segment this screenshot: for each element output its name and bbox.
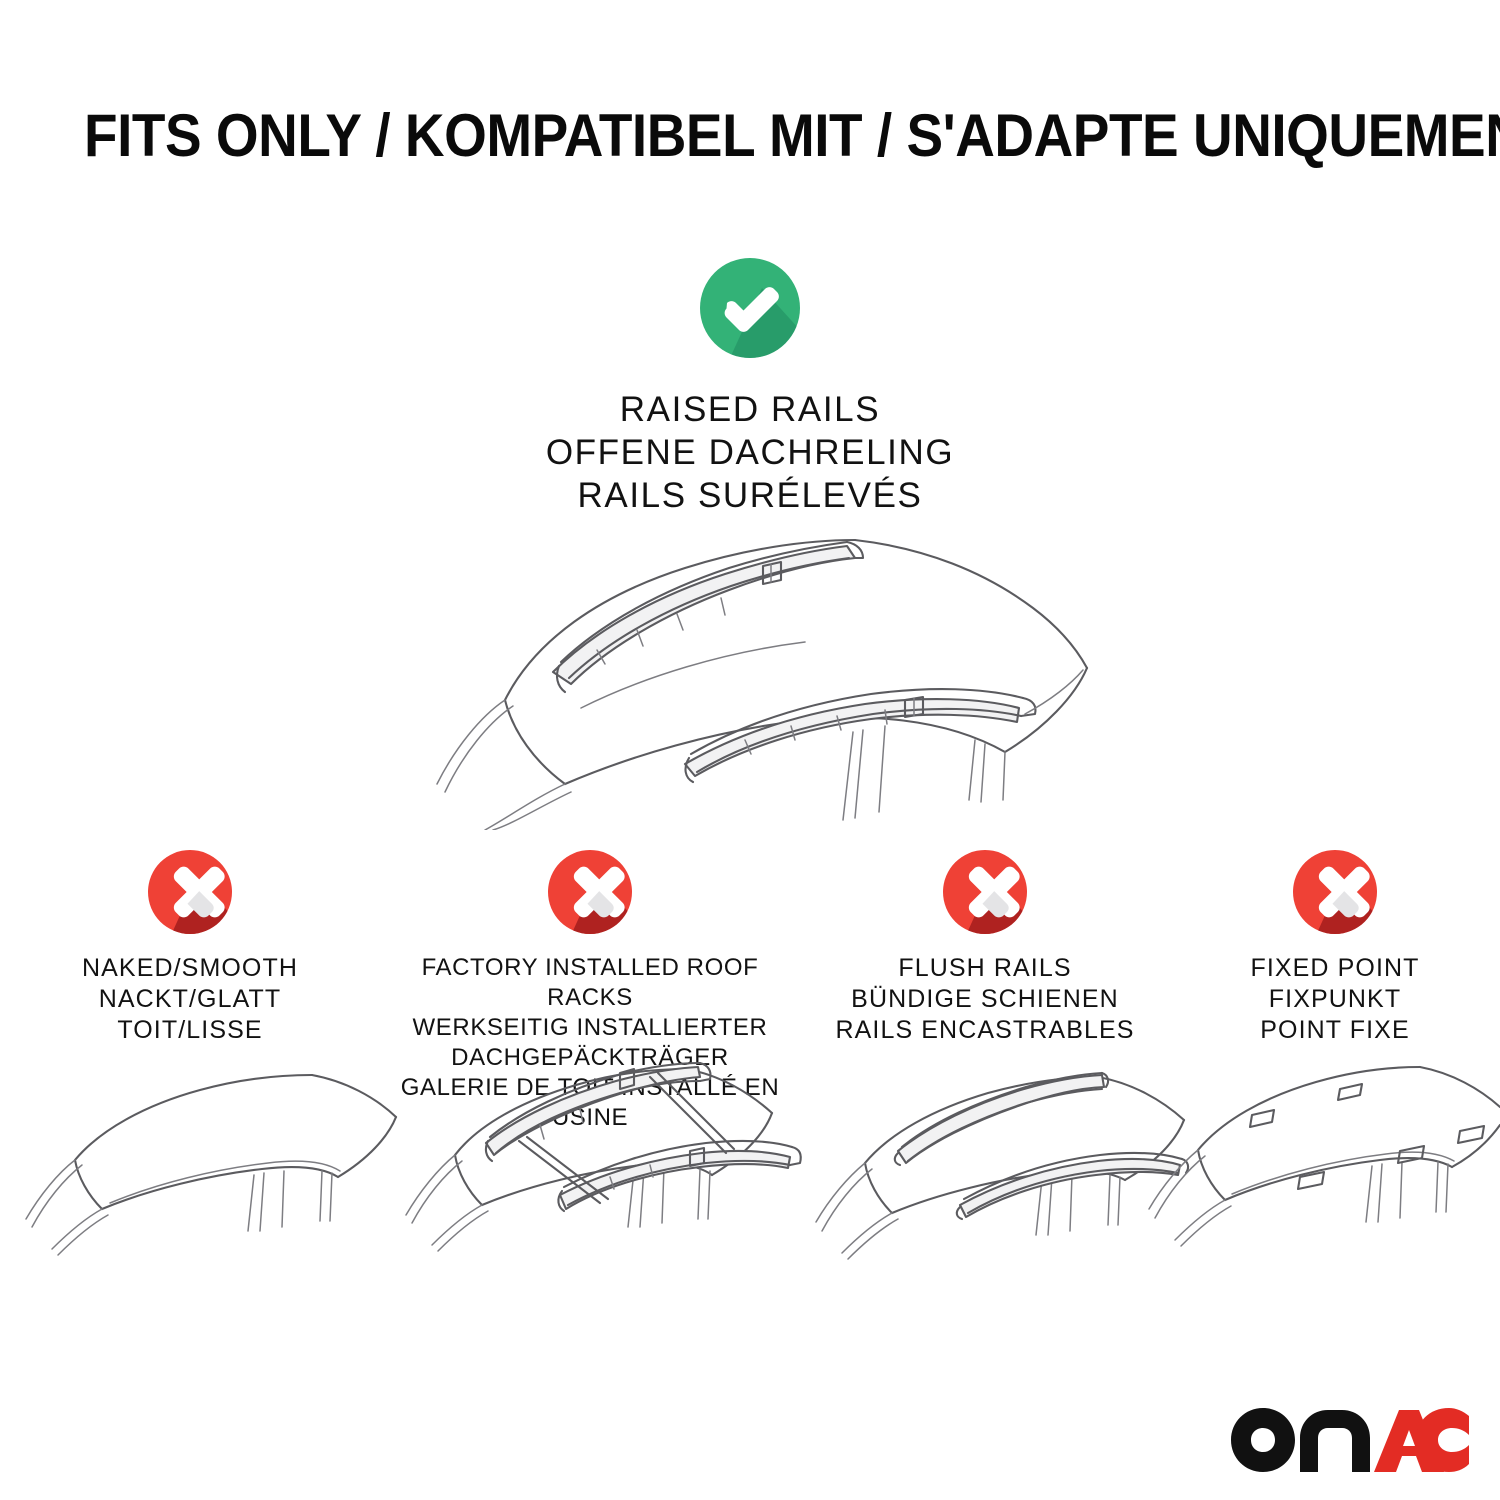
incompatible-illustrations <box>0 1055 1500 1305</box>
cross-circle-icon <box>1293 850 1377 934</box>
incompatible-labels: FLUSH RAILS BÜNDIGE SCHIENEN RAILS ENCAS… <box>835 953 1134 1046</box>
omac-logo <box>1230 1406 1470 1472</box>
incompatible-label-fr: RAILS ENCASTRABLES <box>835 1015 1134 1046</box>
cross-circle-icon <box>943 850 1027 934</box>
car-roof-fixed-point-illustration <box>1149 1067 1500 1246</box>
compatible-label-de: OFFENE DACHRELING <box>546 431 954 474</box>
car-roof-factory-roof-racks-illustration <box>406 1063 801 1251</box>
incompatible-labels: NAKED/SMOOTH NACKT/GLATT TOIT/LISSE <box>82 953 298 1046</box>
car-roof-raised-rails-illustration <box>385 500 1115 830</box>
incompatible-label-en: NAKED/SMOOTH <box>82 953 298 984</box>
incompatible-labels: FIXED POINT FIXPUNKT POINT FIXE <box>1250 953 1419 1046</box>
incompatible-label-fr: TOIT/LISSE <box>82 1015 298 1046</box>
page-title: FITS ONLY / KOMPATIBEL MIT / S'ADAPTE UN… <box>84 104 1310 168</box>
incompatible-label-de: NACKT/GLATT <box>82 984 298 1015</box>
cross-circle-icon <box>548 850 632 934</box>
compatible-labels: RAISED RAILS OFFENE DACHRELING RAILS SUR… <box>546 388 954 517</box>
compatible-label-en: RAISED RAILS <box>546 388 954 431</box>
incompatible-label-en: FIXED POINT <box>1250 953 1419 984</box>
incompatible-label-en: FACTORY INSTALLED ROOF RACKS <box>380 953 800 1013</box>
incompatible-label-de: FIXPUNKT <box>1250 984 1419 1015</box>
incompatible-label-de-1: WERKSEITIG INSTALLIERTER <box>380 1013 800 1043</box>
incompatible-label-en: FLUSH RAILS <box>835 953 1134 984</box>
car-roof-flush-rails-illustration <box>816 1073 1188 1259</box>
incompatible-label-de: BÜNDIGE SCHIENEN <box>835 984 1134 1015</box>
compatible-section: RAISED RAILS OFFENE DACHRELING RAILS SUR… <box>0 258 1500 517</box>
car-roof-naked-smooth-illustration <box>26 1075 396 1255</box>
incompatible-label-fr: POINT FIXE <box>1250 1015 1419 1046</box>
cross-circle-icon <box>148 850 232 934</box>
check-circle-icon <box>700 258 800 358</box>
